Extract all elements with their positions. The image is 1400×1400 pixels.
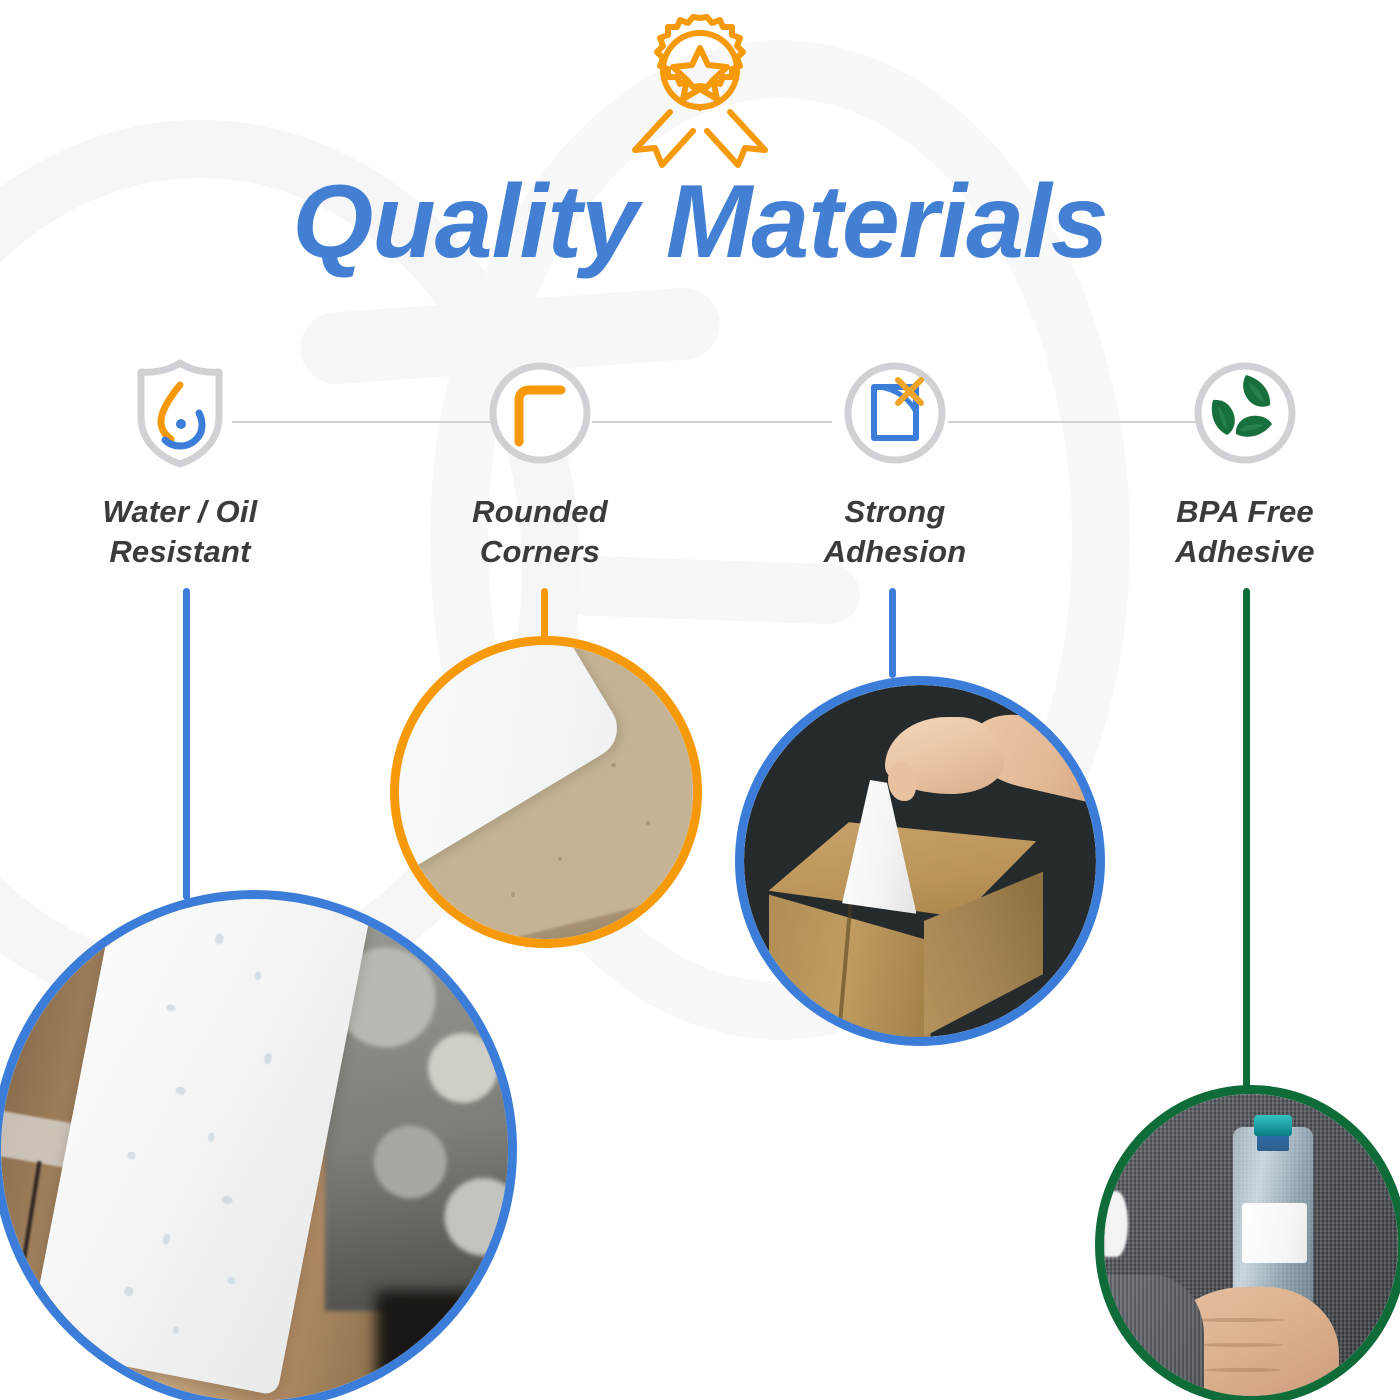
feature-label-line1: BPA Free	[1115, 492, 1375, 532]
water-droplet	[122, 1286, 134, 1299]
feature-label-line2: Adhesion	[765, 532, 1025, 572]
feature-bpa-free-adhesive: BPA Free Adhesive	[1115, 360, 1375, 571]
page-title: Quality Materials	[0, 168, 1400, 277]
paper-speck	[646, 821, 650, 825]
icon-holder	[410, 360, 670, 470]
sweater-sleeve	[1104, 1275, 1204, 1396]
paper-speck	[511, 892, 515, 897]
paper-speck	[558, 857, 562, 861]
thumb-finger	[888, 762, 916, 801]
feature-label-line2: Resistant	[50, 532, 310, 572]
feature-row: Water / Oil Resistant Rounded Corners	[0, 360, 1400, 600]
feature-label-line2: Adhesive	[1115, 532, 1375, 572]
feature-label-line2: Corners	[410, 532, 670, 572]
water-droplet	[172, 1326, 181, 1336]
feature-water-oil-resistant: Water / Oil Resistant	[50, 360, 310, 571]
blank-white-bottle-label	[1242, 1203, 1307, 1263]
finger-crease	[1190, 1318, 1285, 1322]
water-droplet	[263, 1053, 273, 1067]
stem-strong-adhesion	[889, 588, 896, 678]
paper-speck	[611, 763, 616, 767]
feature-label: Rounded Corners	[410, 492, 670, 571]
award-ribbon-icon	[615, 8, 785, 173]
three-leaves-recycle-icon	[1192, 360, 1298, 471]
water-droplet	[207, 1132, 216, 1144]
photo-rounded-corners	[390, 636, 702, 948]
water-droplet	[254, 971, 263, 982]
feature-label: Strong Adhesion	[765, 492, 1025, 571]
icon-holder	[1115, 360, 1375, 470]
photo-water-oil-resistant	[0, 890, 517, 1400]
white-highlight	[1104, 1191, 1128, 1257]
water-droplet	[220, 1195, 234, 1207]
feature-label-line1: Rounded	[410, 492, 670, 532]
award-badge-wrap	[0, 8, 1400, 173]
stem-water-oil-resistant	[183, 588, 190, 900]
shield-waterdrop-icon	[128, 357, 232, 474]
infographic-stage: Quality Materials Water / Oil Resistant	[0, 0, 1400, 1400]
feature-rounded-corners: Rounded Corners	[410, 360, 670, 571]
water-droplet	[126, 1151, 137, 1162]
photo-inner	[399, 645, 693, 939]
water-droplet	[161, 1233, 171, 1246]
feature-label-line1: Strong	[765, 492, 1025, 532]
finger-crease	[1197, 1343, 1284, 1347]
no-peel-label-icon	[842, 360, 948, 471]
photo-inner	[1, 899, 508, 1400]
icon-holder	[50, 360, 310, 470]
icon-holder	[765, 360, 1025, 470]
feature-label-line1: Water / Oil	[50, 492, 310, 532]
feature-label: Water / Oil Resistant	[50, 492, 310, 571]
water-droplet	[175, 1085, 188, 1096]
feature-strong-adhesion: Strong Adhesion	[765, 360, 1025, 571]
rounded-corner-icon	[487, 360, 593, 471]
stem-bpa-free-adhesive	[1243, 588, 1250, 1088]
water-droplet	[214, 933, 225, 946]
water-droplet	[225, 1276, 236, 1287]
photo-strong-adhesion	[735, 676, 1105, 1046]
photo-inner	[744, 685, 1096, 1037]
water-droplet	[165, 1003, 176, 1013]
shadow-area	[376, 1291, 508, 1400]
feature-label: BPA Free Adhesive	[1115, 492, 1375, 571]
finger-crease	[1204, 1368, 1281, 1372]
photo-bpa-free-adhesive	[1095, 1085, 1400, 1400]
photo-inner	[1104, 1094, 1398, 1396]
bottle-cap	[1254, 1115, 1292, 1136]
